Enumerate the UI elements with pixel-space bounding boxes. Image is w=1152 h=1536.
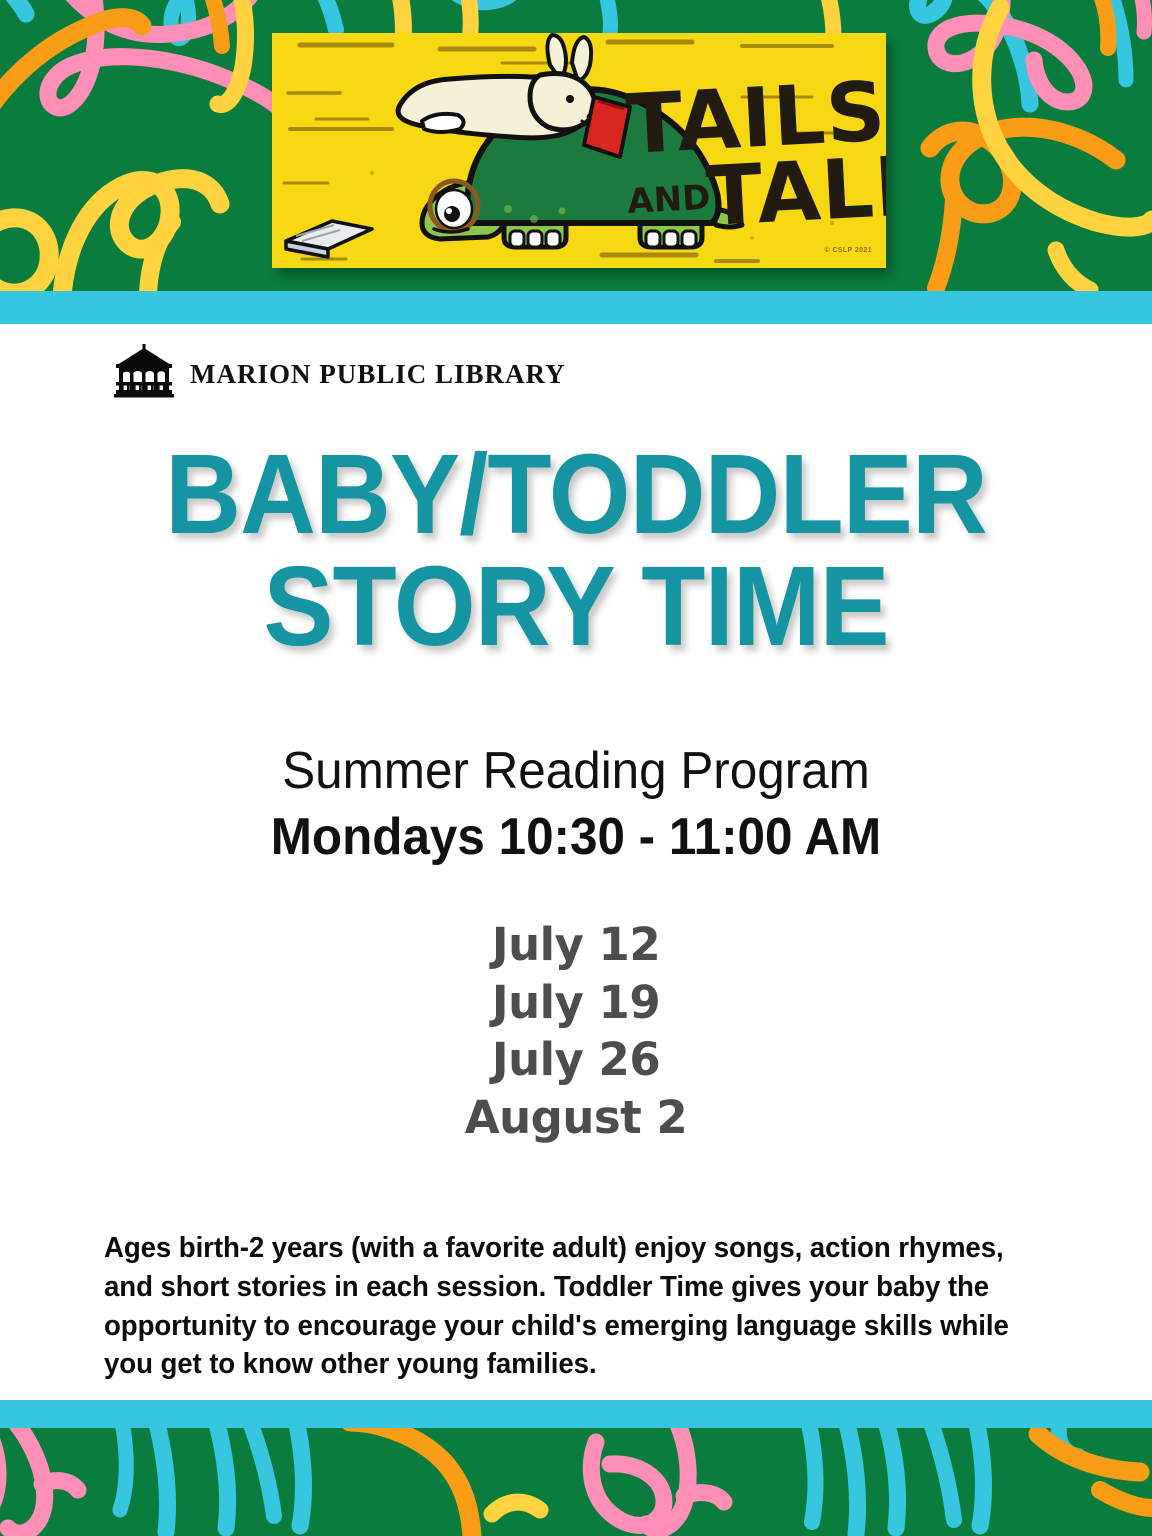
- banner-copyright: © CSLP 2021: [824, 247, 872, 254]
- list-item: August 2: [0, 1089, 1152, 1147]
- bottom-squiggle-pattern: [0, 1428, 1152, 1536]
- bottom-decorative-band: [0, 1428, 1152, 1536]
- banner-artwork: TAILS AND TALES: [272, 33, 886, 268]
- session-time: Mondays 10:30 - 11:00 AM: [29, 806, 1123, 868]
- bottom-cyan-stripe: [0, 1400, 1152, 1428]
- list-item: July 12: [0, 916, 1152, 974]
- description-block: Ages birth-2 years (with a favorite adul…: [104, 1229, 1054, 1384]
- dates-list: July 12 July 19 July 26 August 2: [0, 916, 1152, 1146]
- title-line-2: STORY TIME: [40, 551, 1111, 663]
- description-text: Ages birth-2 years (with a favorite adul…: [104, 1229, 1026, 1384]
- tails-and-tales-banner: TAILS AND TALES © CSLP 2021: [272, 33, 886, 268]
- library-name: MARION PUBLIC LIBRARY: [190, 359, 566, 390]
- page-title: BABY/TODDLER STORY TIME: [0, 439, 1152, 663]
- banner-headline: TAILS AND TALES: [624, 65, 886, 245]
- poster-root: TAILS AND TALES © CSLP 2021: [0, 0, 1152, 1536]
- svg-text:TALES: TALES: [704, 135, 886, 245]
- subtitle-block: Summer Reading Program Mondays 10:30 - 1…: [0, 742, 1152, 868]
- list-item: July 19: [0, 974, 1152, 1032]
- rabbit-reading-icon: [398, 35, 630, 157]
- top-cyan-stripe: [0, 291, 1152, 324]
- svg-text:AND: AND: [626, 178, 711, 222]
- open-book-icon: [286, 221, 372, 257]
- gazebo-icon: [112, 344, 176, 404]
- library-logo: MARION PUBLIC LIBRARY: [112, 344, 566, 404]
- title-line-1: BABY/TODDLER: [40, 439, 1111, 551]
- content-area: MARION PUBLIC LIBRARY BABY/TODDLER STORY…: [0, 324, 1152, 1400]
- program-name: Summer Reading Program: [29, 742, 1123, 802]
- red-book-icon: [584, 97, 630, 157]
- list-item: July 26: [0, 1031, 1152, 1089]
